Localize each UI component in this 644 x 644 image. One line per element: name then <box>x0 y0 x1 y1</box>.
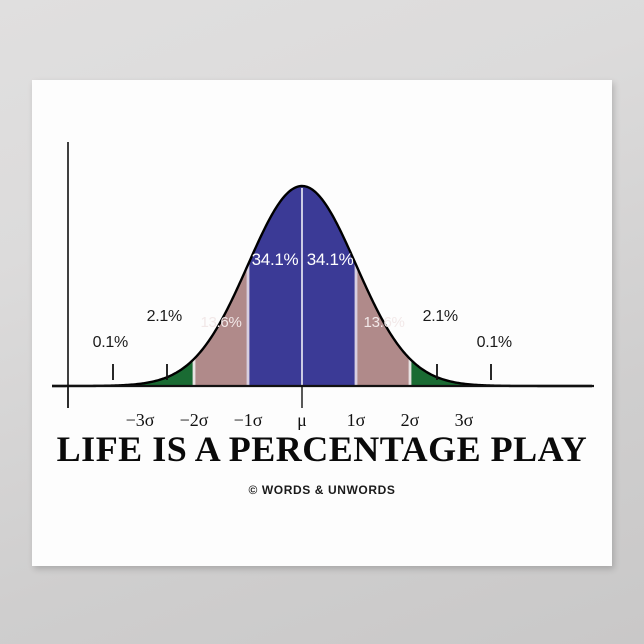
band-separator <box>193 80 196 386</box>
percent-label-2-1-left: 2.1% <box>147 308 182 326</box>
band-left-1to2-sigma <box>194 80 248 386</box>
percent-label-13-6-right: 13.6% <box>364 314 405 331</box>
poster: 0.1% 2.1% 13.6% 34.1% 34.1% 13.6% 2.1% 0… <box>32 80 612 566</box>
band-left-0to1-sigma <box>248 80 302 386</box>
percent-label-34-1-left: 34.1% <box>252 250 299 270</box>
band-left-2to3-sigma <box>140 80 194 386</box>
band-separator <box>409 80 412 386</box>
band-separator <box>355 80 358 386</box>
poster-title: LIFE IS A PERCENTAGE PLAY <box>32 428 612 470</box>
percent-label-2-1-right: 2.1% <box>423 308 458 326</box>
normal-distribution-chart: 0.1% 2.1% 13.6% 34.1% 34.1% 13.6% 2.1% 0… <box>32 80 612 420</box>
band-right-1to2-sigma <box>356 80 410 386</box>
percent-label-13-6-left: 13.6% <box>200 314 241 331</box>
percent-label-0-1-right: 0.1% <box>477 334 512 352</box>
band-right-0to1-sigma <box>302 80 356 386</box>
poster-credit: © WORDS & UNWORDS <box>32 483 612 497</box>
percent-label-0-1-left: 0.1% <box>93 334 128 352</box>
band-separator <box>247 80 250 386</box>
percent-label-34-1-right: 34.1% <box>307 250 354 270</box>
screenshot-canvas: 0.1% 2.1% 13.6% 34.1% 34.1% 13.6% 2.1% 0… <box>0 0 644 644</box>
band-right-2to3-sigma <box>410 80 464 386</box>
